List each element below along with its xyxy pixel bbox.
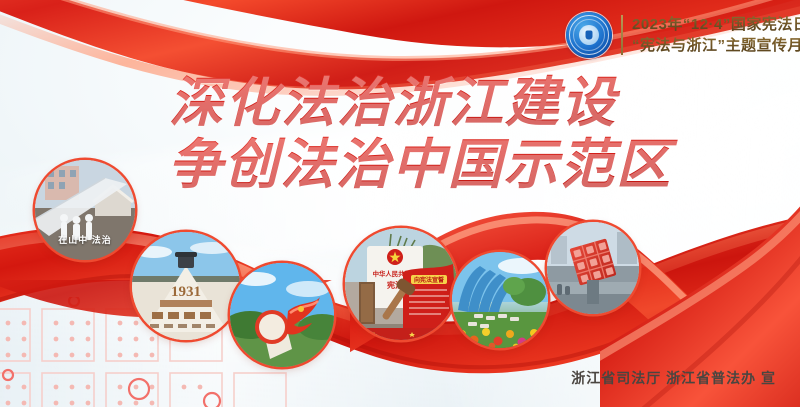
photo-artwork bbox=[230, 263, 334, 367]
photo-law-theme-garden bbox=[452, 252, 548, 348]
header-line-2: “宪法与浙江”主题宣传月 bbox=[632, 36, 800, 55]
svg-text:1931: 1931 bbox=[171, 284, 201, 300]
header-divider bbox=[621, 15, 623, 55]
poster-canvas: 2023年“12·4”国家宪法日 “宪法与浙江”主题宣传月 深化法治浙江建设 争… bbox=[0, 0, 800, 407]
china-justice-emblem-icon bbox=[566, 12, 612, 58]
photo-monument-1931: 1931 bbox=[132, 232, 240, 340]
header-line-1: 2023年“12·4”国家宪法日 bbox=[632, 15, 800, 34]
photo-caption: 在山中 法治 bbox=[35, 233, 135, 246]
title-line-1: 深化法治浙江建设 bbox=[0, 72, 800, 134]
photo-artwork bbox=[547, 222, 639, 314]
photo-constitution-oath-wall: 中华人民共和国 宪法 向宪法宣誓 bbox=[345, 228, 457, 340]
photo-red-cube-sculpture bbox=[547, 222, 639, 314]
photo-artwork bbox=[452, 252, 548, 348]
footer-publisher: 浙江省司法厅 浙江省普法办 宣 bbox=[571, 368, 776, 388]
photo-red-seal-sculpture bbox=[230, 263, 334, 367]
photo-artwork: 1931 bbox=[132, 232, 240, 340]
photo-village-law-culture-park: 在山中 法治 bbox=[35, 160, 135, 260]
photo-artwork: 中华人民共和国 宪法 向宪法宣誓 bbox=[345, 228, 457, 340]
header-badge: 2023年“12·4”国家宪法日 “宪法与浙江”主题宣传月 bbox=[566, 12, 800, 58]
svg-text:向宪法宣誓: 向宪法宣誓 bbox=[414, 276, 444, 284]
